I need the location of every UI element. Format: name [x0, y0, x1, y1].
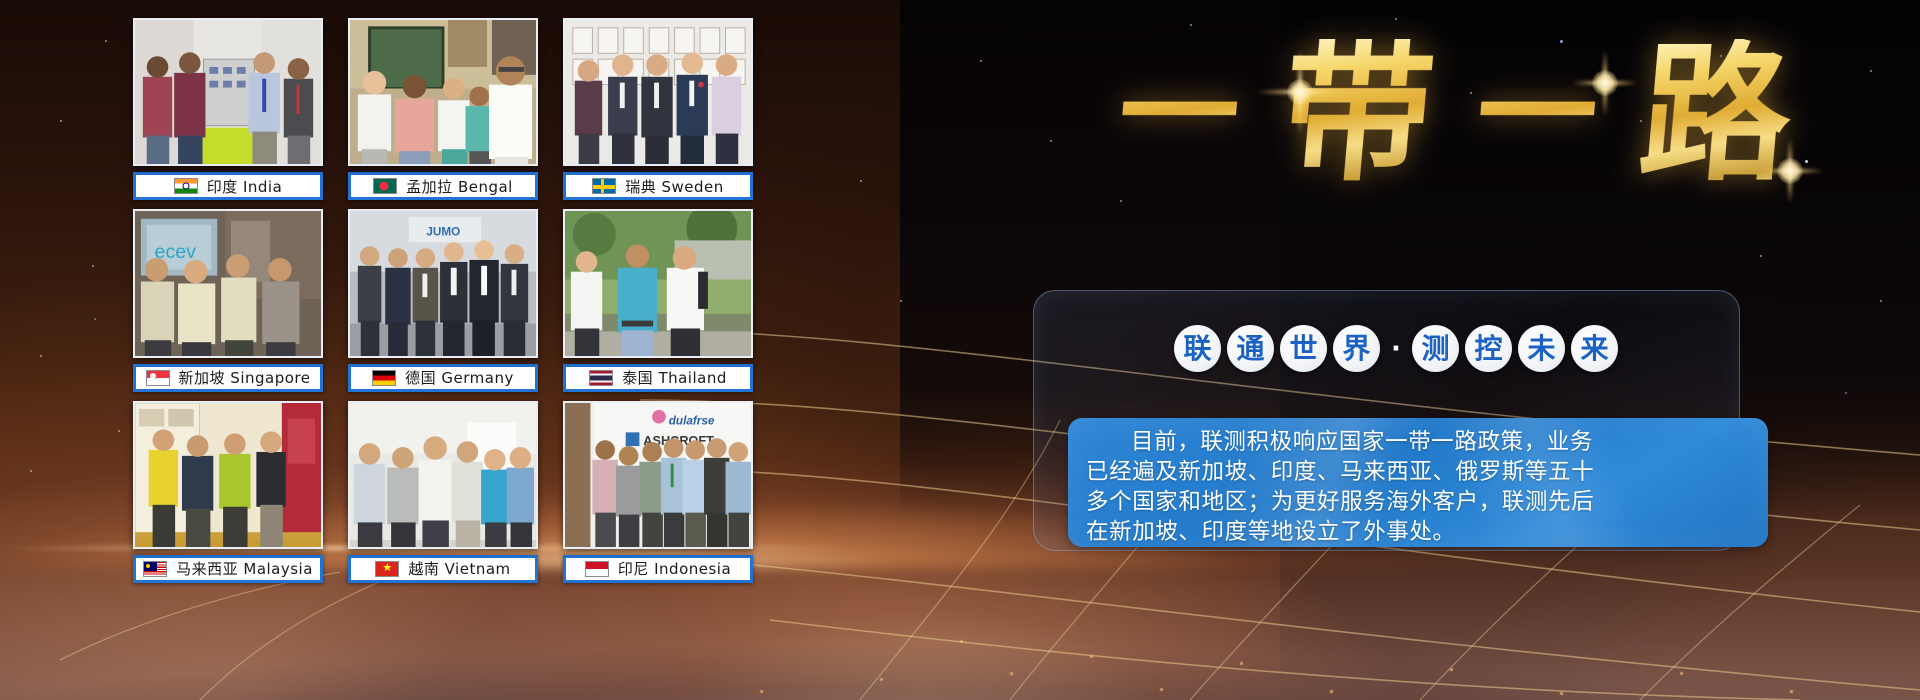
photo-singapore: ecev: [133, 209, 323, 357]
slogan-char-2: 通: [1227, 325, 1274, 372]
photo-germany: JUMO: [348, 209, 538, 357]
photo-india: [133, 18, 323, 166]
caption-cn: 马来西亚: [176, 560, 238, 578]
caption-thailand: 泰国 Thailand: [563, 364, 753, 392]
caption-sweden: 瑞典 Sweden: [563, 172, 753, 200]
caption-indonesia: 印尼 Indonesia: [563, 555, 753, 583]
flag-sweden-icon: [592, 178, 616, 194]
caption-en: Indonesia: [654, 560, 731, 578]
photo-vietnam: [348, 401, 538, 549]
gallery-card[interactable]: JUMO 德国 Germany: [348, 209, 538, 391]
description-line-2: 已经遍及新加坡、印度、马来西亚、俄罗斯等五十: [1086, 457, 1750, 487]
caption-vietnam: 越南 Vietnam: [348, 555, 538, 583]
slogan-char-8: 来: [1571, 325, 1618, 372]
caption-en: Sweden: [662, 178, 724, 196]
flag-india-icon: [174, 178, 198, 194]
description-box: 目前，联测积极响应国家一带一路政策，业务 已经遍及新加坡、印度、马来西亚、俄罗斯…: [1068, 418, 1768, 547]
flag-malaysia-icon: [143, 561, 167, 577]
caption-en: Thailand: [658, 369, 726, 387]
flag-bangladesh-icon: [373, 178, 397, 194]
headline-char-4: 路: [1634, 39, 1797, 189]
caption-en: India: [243, 178, 282, 196]
photo-indonesia: dulafrse ASHCROFT: [563, 401, 753, 549]
gallery-card[interactable]: dulafrse ASHCROFT 印尼 Indonesia: [563, 401, 753, 583]
description-line-1: 目前，联测积极响应国家一带一路政策，业务: [1086, 427, 1750, 457]
caption-cn: 泰国: [622, 369, 653, 387]
slogan-char-3: 世: [1280, 325, 1327, 372]
caption-bengal: 孟加拉 Bengal: [348, 172, 538, 200]
country-gallery-grid: 印度 India 孟加: [133, 18, 773, 583]
caption-cn: 德国: [405, 369, 436, 387]
photo-malaysia: [133, 401, 323, 549]
photo-thailand: [563, 209, 753, 357]
slogan-char-6: 控: [1465, 325, 1512, 372]
caption-en: Malaysia: [243, 560, 313, 578]
caption-en: Bengal: [458, 178, 513, 196]
headline-char-3: 一: [1472, 54, 1602, 174]
caption-germany: 德国 Germany: [348, 364, 538, 392]
slogan-separator-dot: ·: [1386, 325, 1406, 372]
flag-vietnam-icon: [375, 561, 399, 577]
slogan-char-4: 界: [1333, 325, 1380, 372]
flag-germany-icon: [372, 370, 396, 386]
gallery-card[interactable]: 孟加拉 Bengal: [348, 18, 538, 200]
flag-thailand-icon: [589, 370, 613, 386]
svg-text:dulafrse: dulafrse: [669, 414, 715, 427]
caption-cn: 新加坡: [179, 369, 226, 387]
caption-malaysia: 马来西亚 Malaysia: [133, 555, 323, 583]
slogan-char-1: 联: [1174, 325, 1221, 372]
headline-char-1: 一: [1114, 54, 1244, 174]
caption-cn: 印度: [207, 178, 238, 196]
banner-stage: 一 带 一 路: [0, 0, 1920, 700]
caption-cn: 孟加拉: [406, 178, 453, 196]
caption-cn: 印尼: [618, 560, 649, 578]
caption-cn: 越南: [408, 560, 439, 578]
svg-text:JUMO: JUMO: [426, 226, 460, 239]
gallery-card[interactable]: 瑞典 Sweden: [563, 18, 753, 200]
photo-bengal: [348, 18, 538, 166]
gallery-card[interactable]: ecev 新加坡 Singapore: [133, 209, 323, 391]
headline-char-2: 带: [1276, 39, 1439, 189]
description-line-4: 在新加坡、印度等地设立了外事处。: [1086, 517, 1750, 547]
slogan-char-7: 未: [1518, 325, 1565, 372]
photo-sweden: [563, 18, 753, 166]
description-line-3: 多个国家和地区；为更好服务海外客户，联测先后: [1086, 487, 1750, 517]
caption-en: Vietnam: [445, 560, 511, 578]
slogan-char-5: 测: [1412, 325, 1459, 372]
flag-singapore-icon: [146, 370, 170, 386]
flag-indonesia-icon: [585, 561, 609, 577]
headline-calligraphy: 一 带 一 路: [1030, 8, 1880, 220]
caption-en: Singapore: [230, 369, 310, 387]
caption-en: Germany: [441, 369, 513, 387]
slogan-row: 联 通 世 界 · 测 控 未 来: [1174, 325, 1618, 372]
gallery-card[interactable]: 印度 India: [133, 18, 323, 200]
caption-singapore: 新加坡 Singapore: [133, 364, 323, 392]
gallery-card[interactable]: 马来西亚 Malaysia: [133, 401, 323, 583]
gallery-card[interactable]: 越南 Vietnam: [348, 401, 538, 583]
caption-cn: 瑞典: [625, 178, 656, 196]
gallery-card[interactable]: 泰国 Thailand: [563, 209, 753, 391]
caption-india: 印度 India: [133, 172, 323, 200]
